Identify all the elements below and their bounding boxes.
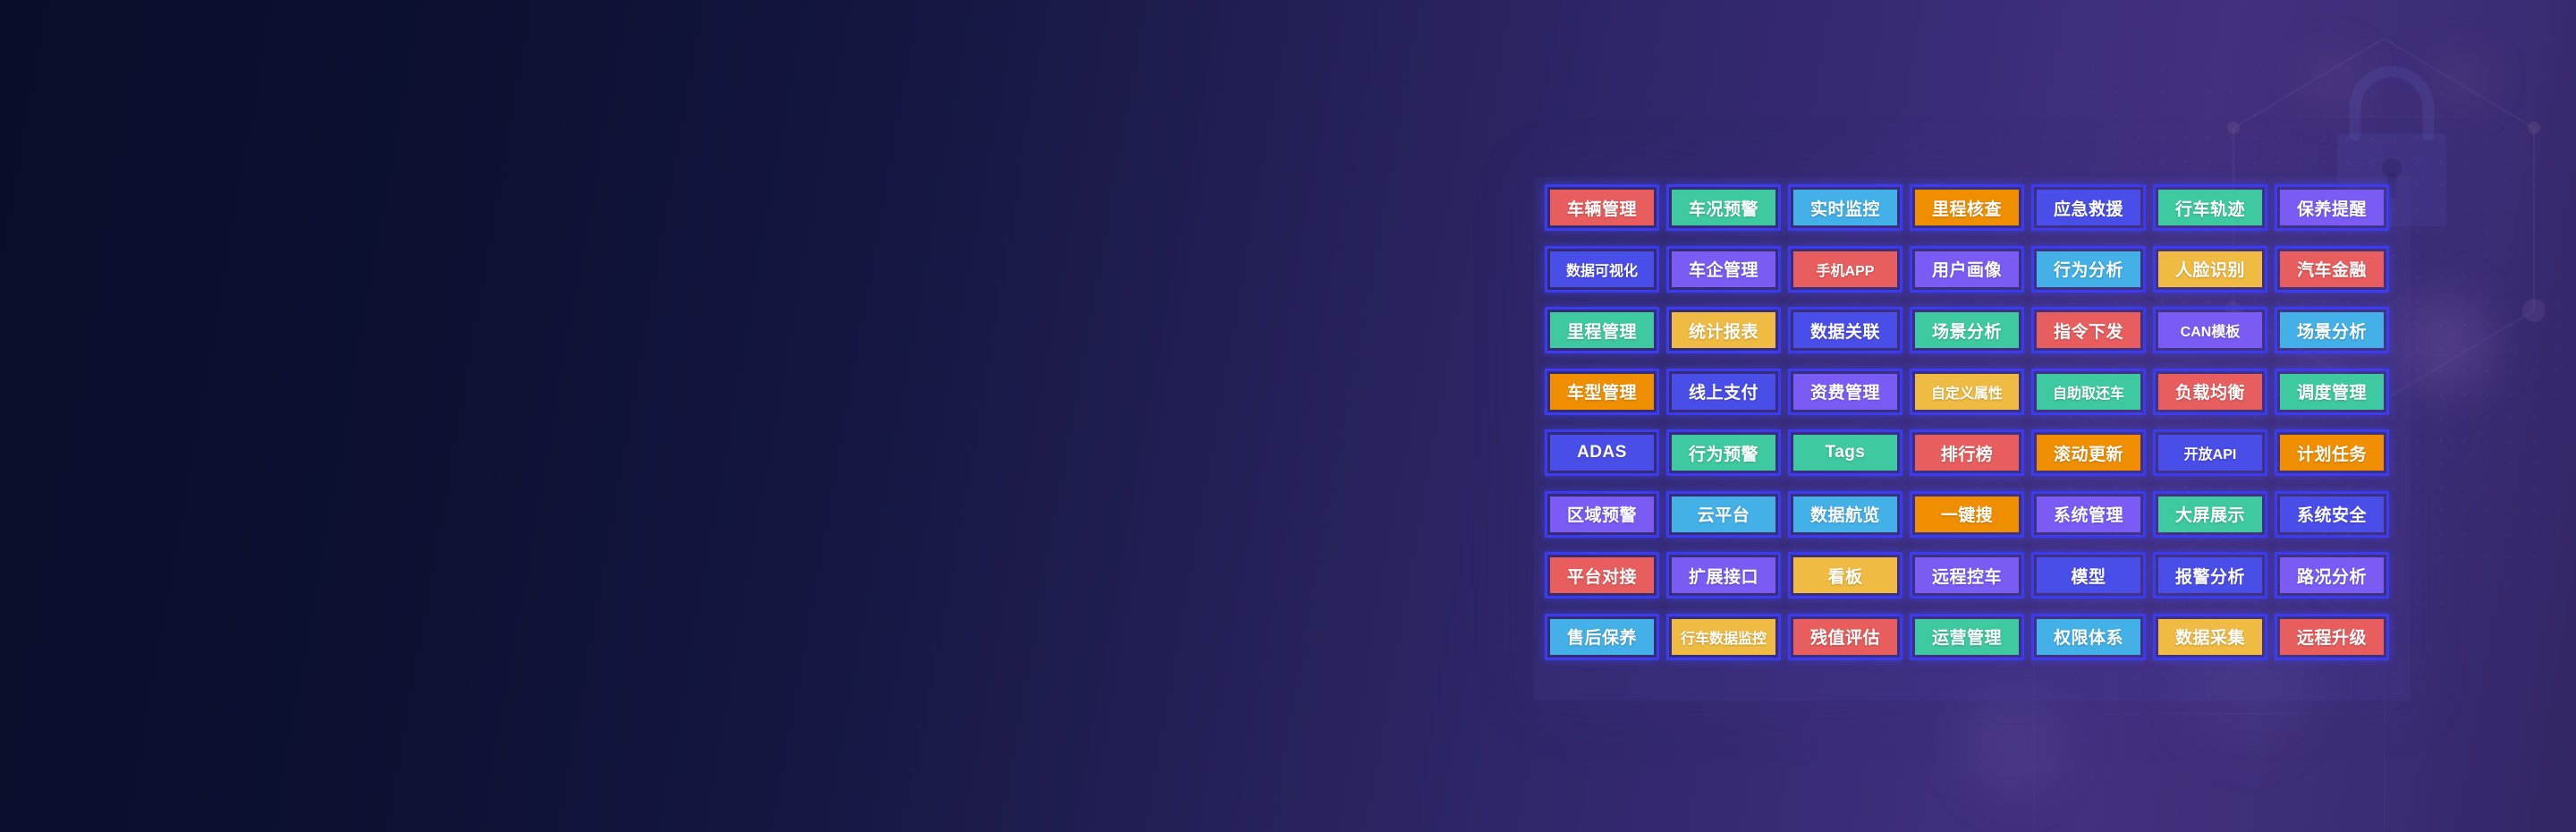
feature-tag-button[interactable]: 计划任务 (2275, 429, 2389, 476)
feature-tag-label: 应急救援 (2037, 190, 2140, 225)
feature-tag-label: 自定义属性 (1915, 374, 2019, 410)
feature-tag-button[interactable]: 手机APP (1788, 246, 1902, 293)
feature-tag-label: 扩展接口 (1672, 557, 1775, 593)
feature-tag-label: 云平台 (1672, 497, 1775, 532)
feature-tag-button[interactable]: 车况预警 (1666, 184, 1781, 231)
feature-tag-label: 线上支付 (1672, 374, 1775, 410)
feature-tag-label: ADAS (1550, 435, 1654, 471)
feature-tag-label: 大屏展示 (2158, 497, 2262, 532)
feature-tag-button[interactable]: 保养提醒 (2275, 184, 2389, 231)
feature-tag-button[interactable]: 行为预警 (1666, 429, 1781, 476)
feature-tag-label: 保养提醒 (2280, 190, 2384, 225)
feature-tag-label: 远程控车 (1915, 557, 2019, 593)
feature-tag-label: 数据可视化 (1550, 251, 1654, 287)
feature-tag-button[interactable]: 指令下发 (2031, 307, 2146, 353)
feature-tag-button[interactable]: 数据航览 (1788, 491, 1902, 538)
feature-tag-label: 开放API (2158, 435, 2262, 471)
feature-tag-button[interactable]: 大屏展示 (2153, 491, 2267, 538)
feature-tag-label: 模型 (2037, 557, 2140, 593)
feature-tag-label: 里程管理 (1550, 312, 1654, 348)
feature-tag-button[interactable]: 行为分析 (2031, 246, 2146, 293)
feature-tag-button[interactable]: 统计报表 (1666, 307, 1781, 353)
feature-tag-label: 场景分析 (1915, 312, 2019, 348)
feature-tag-button[interactable]: 车企管理 (1666, 246, 1781, 293)
feature-tag-label: 车型管理 (1550, 374, 1654, 410)
feature-tag-button[interactable]: 数据采集 (2153, 614, 2267, 660)
feature-tag-button[interactable]: 售后保养 (1545, 614, 1659, 660)
feature-tag-label: 自助取还车 (2037, 374, 2140, 410)
feature-tag-label: 区域预警 (1550, 497, 1654, 532)
feature-tag-button[interactable]: 车辆管理 (1545, 184, 1659, 231)
feature-tag-button[interactable]: 运营管理 (1910, 614, 2024, 660)
feature-tag-button[interactable]: 滚动更新 (2031, 429, 2146, 476)
feature-tag-label: 运营管理 (1915, 619, 2019, 655)
feature-tag-label: 行车轨迹 (2158, 190, 2262, 225)
feature-tag-label: 数据采集 (2158, 619, 2262, 655)
feature-tag-grid: 车辆管理车况预警实时监控里程核查应急救援行车轨迹保养提醒数据可视化车企管理手机A… (1534, 177, 2411, 700)
feature-tag-label: 资费管理 (1793, 374, 1897, 410)
feature-tag-label: 售后保养 (1550, 619, 1654, 655)
feature-tag-label: 行车数据监控 (1672, 619, 1775, 655)
feature-tag-button[interactable]: 模型 (2031, 552, 2146, 599)
feature-tag-button[interactable]: 系统管理 (2031, 491, 2146, 538)
feature-tag-button[interactable]: 负载均衡 (2153, 369, 2267, 415)
tag-row: 售后保养行车数据监控残值评估运营管理权限体系数据采集远程升级 (1534, 607, 2411, 668)
feature-tag-button[interactable]: 自助取还车 (2031, 369, 2146, 415)
feature-tag-label: 报警分析 (2158, 557, 2262, 593)
light-streak (2021, 713, 2442, 714)
feature-tag-label: 远程升级 (2280, 619, 2384, 655)
glow-orb (1959, 689, 2066, 796)
glow-orb (2308, 54, 2361, 107)
feature-tag-label: 场景分析 (2280, 312, 2384, 348)
feature-tag-button[interactable]: 系统安全 (2275, 491, 2389, 538)
feature-tag-button[interactable]: 权限体系 (2031, 614, 2146, 660)
feature-tag-button[interactable]: 扩展接口 (1666, 552, 1781, 599)
feature-tag-label: 路况分析 (2280, 557, 2384, 593)
feature-tag-button[interactable]: 车型管理 (1545, 369, 1659, 415)
feature-tag-button[interactable]: 里程核查 (1910, 184, 2024, 231)
feature-tag-label: 里程核查 (1915, 190, 2019, 225)
feature-tag-button[interactable]: 里程管理 (1545, 307, 1659, 353)
feature-tag-label: 一键搜 (1915, 497, 2019, 532)
feature-tag-label: 手机APP (1793, 251, 1897, 287)
tag-row: 平台对接扩展接口看板远程控车模型报警分析路况分析 (1534, 545, 2411, 607)
feature-tag-label: 权限体系 (2037, 619, 2140, 655)
feature-tag-button[interactable]: CAN模板 (2153, 307, 2267, 353)
feature-tag-label: CAN模板 (2158, 312, 2262, 348)
feature-tag-label: 负载均衡 (2158, 374, 2262, 410)
feature-tag-button[interactable]: 远程升级 (2275, 614, 2389, 660)
feature-tag-label: 排行榜 (1915, 435, 2019, 471)
feature-tag-label: 车况预警 (1672, 190, 1775, 225)
feature-tag-label: 数据关联 (1793, 312, 1897, 348)
feature-tag-button[interactable]: 区域预警 (1545, 491, 1659, 538)
feature-tag-button[interactable]: 场景分析 (2275, 307, 2389, 353)
feature-tag-label: 统计报表 (1672, 312, 1775, 348)
feature-tag-button[interactable]: 云平台 (1666, 491, 1781, 538)
tag-row: 区域预警云平台数据航览一键搜系统管理大屏展示系统安全 (1534, 484, 2411, 546)
feature-tag-button[interactable]: 数据可视化 (1545, 246, 1659, 293)
feature-tag-button[interactable]: 路况分析 (2275, 552, 2389, 599)
feature-tag-button[interactable]: 应急救援 (2031, 184, 2146, 231)
feature-tag-button[interactable]: 人脸识别 (2153, 246, 2267, 293)
feature-tag-button[interactable]: 行车轨迹 (2153, 184, 2267, 231)
feature-tag-label: Tags (1793, 435, 1897, 471)
feature-tag-button[interactable]: 线上支付 (1666, 369, 1781, 415)
feature-tag-label: 行为分析 (2037, 251, 2140, 287)
feature-tag-button[interactable]: 行车数据监控 (1666, 614, 1781, 660)
glow-orb (2438, 55, 2487, 104)
feature-tag-label: 车辆管理 (1550, 190, 1654, 225)
tag-row: 车型管理线上支付资费管理自定义属性自助取还车负载均衡调度管理 (1534, 361, 2411, 423)
feature-tag-button[interactable]: 排行榜 (1910, 429, 2024, 476)
feature-tag-button[interactable]: 远程控车 (1910, 552, 2024, 599)
feature-tag-label: 实时监控 (1793, 190, 1897, 225)
feature-tag-label: 用户画像 (1915, 251, 2019, 287)
feature-tag-label: 车企管理 (1672, 251, 1775, 287)
feature-tag-label: 调度管理 (2280, 374, 2384, 410)
feature-tag-button[interactable]: 资费管理 (1788, 369, 1902, 415)
tag-row: 车辆管理车况预警实时监控里程核查应急救援行车轨迹保养提醒 (1534, 177, 2411, 239)
feature-tag-button[interactable]: 开放API (2153, 429, 2267, 476)
feature-tag-label: 数据航览 (1793, 497, 1897, 532)
feature-tag-button[interactable]: 看板 (1788, 552, 1902, 599)
feature-tag-button[interactable]: 场景分析 (1910, 307, 2024, 353)
light-streak (2227, 116, 2522, 117)
feature-tag-button[interactable]: 汽车金融 (2275, 246, 2389, 293)
feature-tag-button[interactable]: 用户画像 (1910, 246, 2024, 293)
feature-tag-label: 系统安全 (2280, 497, 2384, 532)
feature-tag-label: 汽车金融 (2280, 251, 2384, 287)
feature-tag-button[interactable]: ADAS (1545, 429, 1659, 476)
page-stage: 车辆管理车况预警实时监控里程核查应急救援行车轨迹保养提醒数据可视化车企管理手机A… (0, 0, 2576, 832)
tag-row: ADAS行为预警Tags排行榜滚动更新开放API计划任务 (1534, 422, 2411, 484)
feature-tag-label: 残值评估 (1793, 619, 1897, 655)
feature-tag-button[interactable]: 平台对接 (1545, 552, 1659, 599)
feature-tag-label: 人脸识别 (2158, 251, 2262, 287)
feature-tag-button[interactable]: 残值评估 (1788, 614, 1902, 660)
feature-tag-button[interactable]: 数据关联 (1788, 307, 1902, 353)
feature-tag-button[interactable]: 实时监控 (1788, 184, 1902, 231)
feature-tag-button[interactable]: Tags (1788, 429, 1902, 476)
feature-tag-button[interactable]: 一键搜 (1910, 491, 2024, 538)
feature-tag-label: 指令下发 (2037, 312, 2140, 348)
tag-row: 里程管理统计报表数据关联场景分析指令下发CAN模板场景分析 (1534, 300, 2411, 361)
feature-tag-button[interactable]: 自定义属性 (1910, 369, 2024, 415)
tag-row: 数据可视化车企管理手机APP用户画像行为分析人脸识别汽车金融 (1534, 239, 2411, 301)
feature-tag-button[interactable]: 报警分析 (2153, 552, 2267, 599)
feature-tag-label: 系统管理 (2037, 497, 2140, 532)
feature-tag-button[interactable]: 调度管理 (2275, 369, 2389, 415)
feature-tag-label: 滚动更新 (2037, 435, 2140, 471)
feature-tag-label: 计划任务 (2280, 435, 2384, 471)
feature-tag-label: 平台对接 (1550, 557, 1654, 593)
feature-tag-label: 看板 (1793, 557, 1897, 593)
feature-tag-label: 行为预警 (1672, 435, 1775, 471)
